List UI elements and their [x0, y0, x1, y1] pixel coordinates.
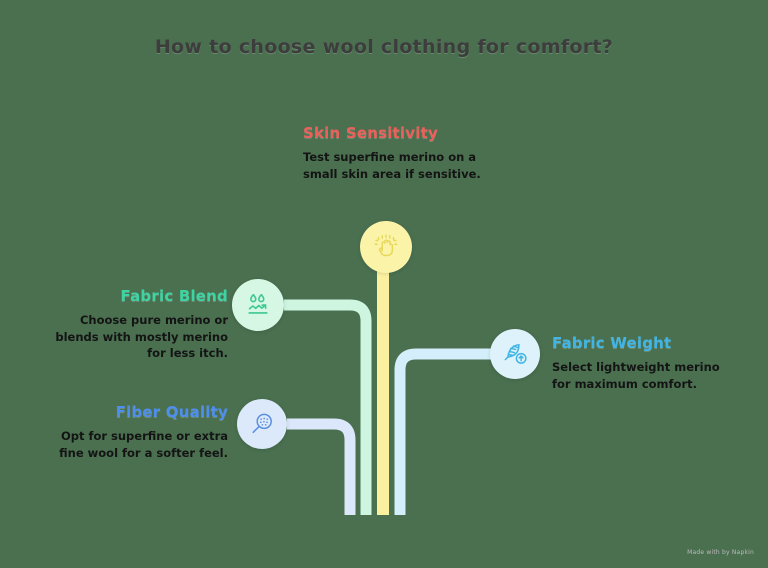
body-fabric-blend: Choose pure merino or blends with mostly…	[48, 312, 228, 362]
connector-wires	[0, 0, 768, 568]
moisture-wicking-icon	[243, 290, 273, 320]
text-block-fabric-blend: Fabric Blend Choose pure merino or blend…	[48, 287, 228, 362]
infographic-canvas: How to choose wool clothing for comfort?	[0, 0, 768, 568]
hand-sensitivity-icon	[371, 232, 401, 262]
body-skin-sensitivity: Test superfine merino on a small skin ar…	[303, 149, 489, 182]
node-fiber-quality[interactable]	[237, 399, 287, 449]
node-fabric-weight[interactable]	[490, 329, 540, 379]
body-fabric-weight: Select lightweight merino for maximum co…	[552, 359, 722, 392]
wire-fiber	[287, 424, 350, 515]
watermark: Made with by Napkin	[687, 549, 754, 556]
body-fiber-quality: Opt for superfine or extra fine wool for…	[48, 428, 228, 461]
node-fabric-blend[interactable]	[232, 279, 284, 331]
magnifier-fiber-icon	[248, 410, 276, 438]
heading-fiber-quality: Fiber Quality	[48, 403, 228, 421]
text-block-fiber-quality: Fiber Quality Opt for superfine or extra…	[48, 403, 228, 461]
node-skin-sensitivity[interactable]	[360, 221, 412, 273]
heading-fabric-weight: Fabric Weight	[552, 334, 722, 352]
feather-lightweight-icon	[501, 340, 529, 368]
text-block-fabric-weight: Fabric Weight Select lightweight merino …	[552, 334, 722, 392]
text-block-skin-sensitivity: Skin Sensitivity Test superfine merino o…	[303, 124, 489, 182]
wire-weight	[400, 354, 491, 515]
heading-skin-sensitivity: Skin Sensitivity	[303, 124, 489, 142]
heading-fabric-blend: Fabric Blend	[48, 287, 228, 305]
